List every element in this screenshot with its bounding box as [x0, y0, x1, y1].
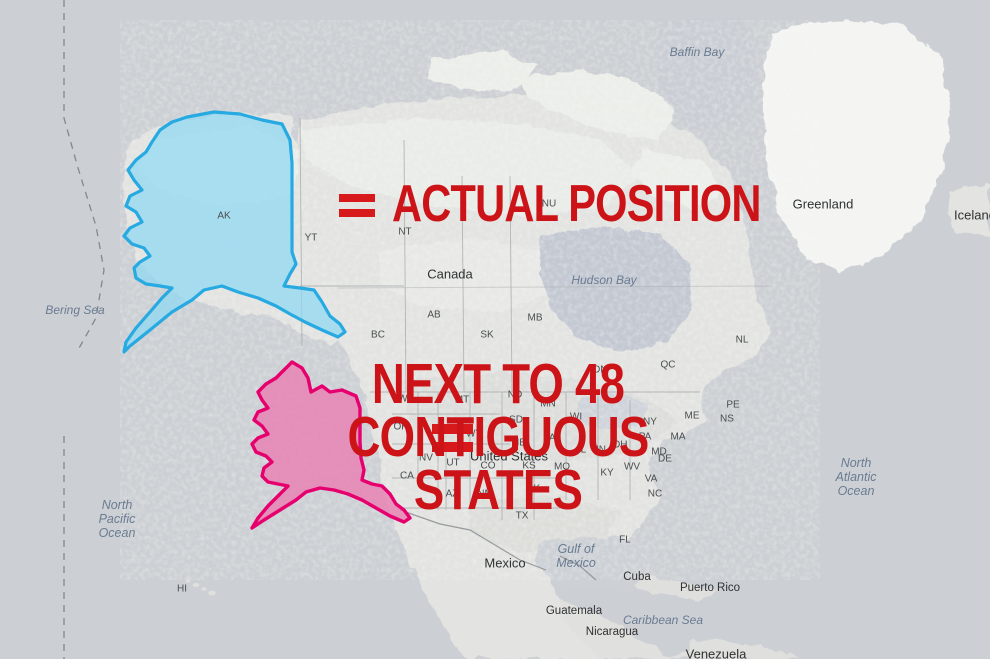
base-map — [0, 0, 990, 659]
equals-bar — [339, 194, 375, 202]
equals-bar — [432, 424, 473, 434]
equals-sign-actual-position — [339, 194, 375, 217]
equals-sign-next-to-48 — [432, 424, 473, 452]
map-infographic: Canada Greenland Iceland United States M… — [0, 0, 990, 659]
equals-bar — [339, 209, 375, 217]
equals-bar — [432, 442, 473, 452]
